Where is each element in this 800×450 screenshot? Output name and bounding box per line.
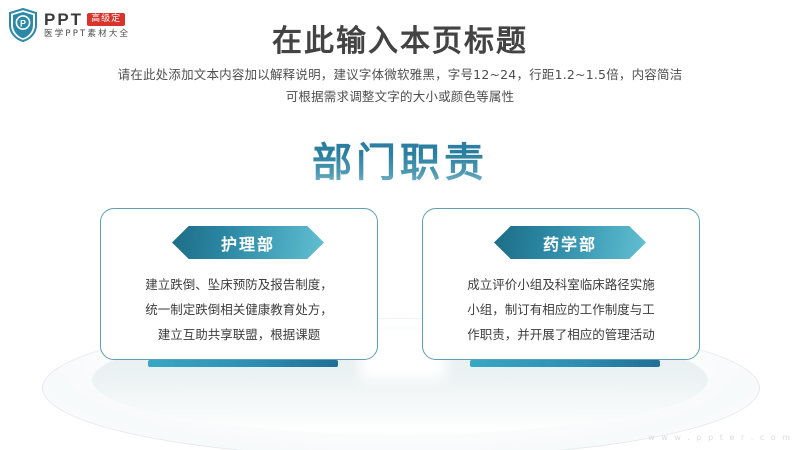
card-body-pharmacy: 成立评价小组及科室临床路径实施 小组，制订有相应的工作制度与工 作职责，并开展了…	[436, 272, 686, 347]
card-body-line: 成立评价小组及科室临床路径实施	[436, 272, 686, 297]
page-subtitle-line-1: 请在此处添加文本内容加以解释说明，建议字体微软雅黑，字号12~24，行距1.2~…	[0, 64, 800, 83]
card-body-nursing: 建立跌倒、坠床预防及报告制度， 统一制定跌倒相关健康教育处方， 建立互助共享联盟…	[114, 272, 364, 347]
card-shadow-bar-left	[148, 360, 338, 367]
card-body-line: 作职责，并开展了相应的管理活动	[436, 322, 686, 347]
page-subtitle-line-2: 可根据需求调整文字的大小或颜色等属性	[0, 86, 800, 105]
card-body-line: 统一制定跌倒相关健康教育处方，	[114, 297, 364, 322]
slide-canvas: P PPT 高级定 医学PPT素材大全 在此输入本页标题 请在此处添加文本内容加…	[0, 0, 800, 450]
card-shadow-bar-right	[470, 360, 660, 367]
section-heading: 部门职责	[0, 130, 800, 188]
card-body-line: 小组，制订有相应的工作制度与工	[436, 297, 686, 322]
page-title: 在此输入本页标题	[0, 16, 800, 60]
card-ribbon-label-pharmacy: 药学部	[494, 226, 646, 259]
watermark: w w w . p p t e r . c o m	[648, 433, 792, 442]
card-ribbon-label-nursing: 护理部	[172, 226, 324, 259]
card-body-line: 建立跌倒、坠床预防及报告制度，	[114, 272, 364, 297]
card-body-line: 建立互助共享联盟，根据课题	[114, 322, 364, 347]
